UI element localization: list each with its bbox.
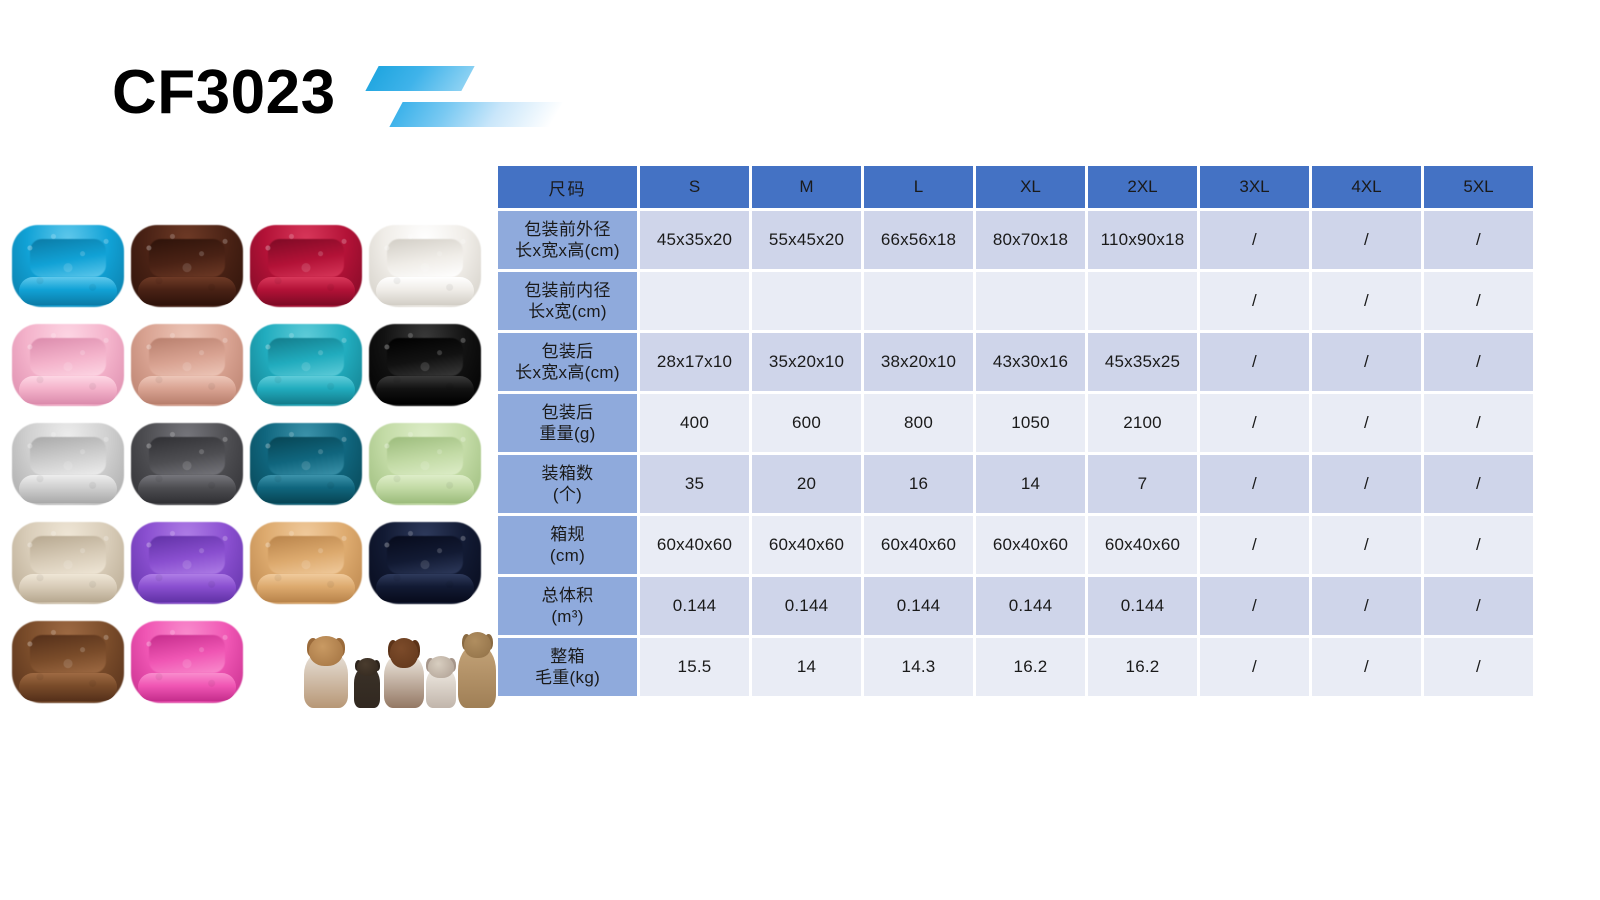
row-label: 装箱数(个) — [498, 455, 637, 513]
pet-head — [309, 636, 343, 666]
table-row: 包装前外径长x宽x高(cm)45x35x2055x45x2066x56x1880… — [498, 211, 1533, 269]
bed-fur-texture — [131, 225, 243, 307]
bed-fur-texture — [369, 225, 481, 307]
row-label-line-2: (个) — [498, 484, 637, 505]
cell-s: 35 — [640, 455, 749, 513]
cell-xl — [976, 272, 1085, 330]
cell-5xl: / — [1424, 272, 1533, 330]
product-color-gallery — [8, 216, 486, 711]
pet-bulldog — [304, 636, 348, 708]
column-header-m: M — [752, 166, 861, 208]
cell-4xl: / — [1312, 455, 1421, 513]
cell-5xl: / — [1424, 638, 1533, 696]
product-swatch-petrol-blue — [246, 414, 365, 513]
pet-bed-image — [369, 423, 481, 505]
table-corner-header: 尺码 — [498, 166, 637, 208]
row-label-line-2: (m³) — [498, 606, 637, 627]
table-row: 包装后长x宽x高(cm)28x17x1035x20x1038x20x1043x3… — [498, 333, 1533, 391]
bed-fur-texture — [12, 423, 124, 505]
pet-bed-image — [250, 423, 362, 505]
column-header-xl: XL — [976, 166, 1085, 208]
bed-fur-texture — [131, 423, 243, 505]
pet-bed-image — [12, 324, 124, 406]
cell-l: 14.3 — [864, 638, 973, 696]
cell-5xl: / — [1424, 211, 1533, 269]
table-row: 包装前内径长x宽(cm)/// — [498, 272, 1533, 330]
cell-3xl: / — [1200, 577, 1309, 635]
pet-bed-image — [131, 225, 243, 307]
column-header-s: S — [640, 166, 749, 208]
spec-table-container: 尺码SMLXL2XL3XL4XL5XL 包装前外径长x宽x高(cm)45x35x… — [495, 163, 1508, 699]
cell-m: 600 — [752, 394, 861, 452]
logo-bar-top-icon — [365, 66, 474, 91]
cell-2xl: 2100 — [1088, 394, 1197, 452]
cell-3xl: / — [1200, 211, 1309, 269]
pet-head — [428, 656, 454, 678]
cell-5xl: / — [1424, 516, 1533, 574]
cell-3xl: / — [1200, 516, 1309, 574]
group-of-pets-photo — [302, 616, 502, 708]
cell-5xl: / — [1424, 577, 1533, 635]
cell-3xl: / — [1200, 333, 1309, 391]
product-swatch-dark-brown — [127, 216, 246, 315]
cell-xl: 0.144 — [976, 577, 1085, 635]
cell-4xl: / — [1312, 638, 1421, 696]
cell-xl: 60x40x60 — [976, 516, 1085, 574]
cell-l: 66x56x18 — [864, 211, 973, 269]
product-swatch-teal — [246, 315, 365, 414]
pet-bed-image — [131, 423, 243, 505]
cell-l — [864, 272, 973, 330]
row-label: 包装后重量(g) — [498, 394, 637, 452]
table-row: 箱规(cm)60x40x6060x40x6060x40x6060x40x6060… — [498, 516, 1533, 574]
cell-s: 400 — [640, 394, 749, 452]
bed-fur-texture — [12, 522, 124, 604]
product-swatch-beige — [8, 513, 127, 612]
cell-2xl: 16.2 — [1088, 638, 1197, 696]
pet-head — [464, 632, 491, 658]
cell-3xl: / — [1200, 272, 1309, 330]
bed-fur-texture — [131, 621, 243, 703]
table-row: 整箱毛重(kg)15.51414.316.216.2/// — [498, 638, 1533, 696]
pet-bed-image — [12, 522, 124, 604]
cell-l: 38x20x10 — [864, 333, 973, 391]
cell-m: 35x20x10 — [752, 333, 861, 391]
row-label-line-2: 重量(g) — [498, 423, 637, 444]
table-row: 装箱数(个)352016147/// — [498, 455, 1533, 513]
row-label: 整箱毛重(kg) — [498, 638, 637, 696]
product-swatch-hot-pink — [127, 612, 246, 711]
row-label-line-2: 长x宽(cm) — [498, 301, 637, 322]
product-swatch-purple — [127, 513, 246, 612]
pet-bed-image — [131, 324, 243, 406]
pet-bed-image — [250, 324, 362, 406]
row-label: 包装后长x宽x高(cm) — [498, 333, 637, 391]
bed-fur-texture — [12, 621, 124, 703]
column-header-5xl: 5XL — [1424, 166, 1533, 208]
row-label: 包装前外径长x宽x高(cm) — [498, 211, 637, 269]
bed-fur-texture — [250, 324, 362, 406]
table-row: 包装后重量(g)40060080010502100/// — [498, 394, 1533, 452]
cell-s: 28x17x10 — [640, 333, 749, 391]
cell-m: 14 — [752, 638, 861, 696]
cell-xl: 14 — [976, 455, 1085, 513]
product-swatch-medium-brown — [8, 612, 127, 711]
cell-2xl: 110x90x18 — [1088, 211, 1197, 269]
pet-french-bulldog — [458, 632, 496, 708]
title-block: CF3023 — [112, 52, 558, 134]
column-header-l: L — [864, 166, 973, 208]
column-header-3xl: 3XL — [1200, 166, 1309, 208]
pet-basset-hound — [384, 638, 424, 708]
pet-kitten — [354, 658, 380, 708]
pet-bed-image — [369, 225, 481, 307]
pet-persian-cat — [426, 656, 456, 708]
cell-l: 60x40x60 — [864, 516, 973, 574]
cell-s — [640, 272, 749, 330]
cell-xl: 43x30x16 — [976, 333, 1085, 391]
product-swatch-sage-green — [365, 414, 484, 513]
row-label-line-1: 总体积 — [498, 585, 637, 606]
cell-4xl: / — [1312, 211, 1421, 269]
row-label-line-2: 长x宽x高(cm) — [498, 240, 637, 261]
size-spec-table: 尺码SMLXL2XL3XL4XL5XL 包装前外径长x宽x高(cm)45x35x… — [495, 163, 1536, 699]
column-header-2xl: 2XL — [1088, 166, 1197, 208]
page-title: CF3023 — [112, 62, 336, 124]
table-body: 包装前外径长x宽x高(cm)45x35x2055x45x2066x56x1880… — [498, 211, 1533, 696]
pet-bed-image — [131, 621, 243, 703]
cell-2xl: 60x40x60 — [1088, 516, 1197, 574]
bed-fur-texture — [131, 522, 243, 604]
cell-m: 55x45x20 — [752, 211, 861, 269]
cell-m: 60x40x60 — [752, 516, 861, 574]
product-swatch-cream-white — [365, 216, 484, 315]
pet-bed-image — [12, 423, 124, 505]
pet-bed-image — [250, 522, 362, 604]
cell-4xl: / — [1312, 394, 1421, 452]
cell-xl: 16.2 — [976, 638, 1085, 696]
row-label-line-2: 毛重(kg) — [498, 667, 637, 688]
table-row: 总体积(m³)0.1440.1440.1440.1440.144/// — [498, 577, 1533, 635]
cell-l: 800 — [864, 394, 973, 452]
cell-m: 20 — [752, 455, 861, 513]
cell-3xl: / — [1200, 455, 1309, 513]
row-label-line-1: 装箱数 — [498, 463, 637, 484]
cell-5xl: / — [1424, 394, 1533, 452]
cell-2xl: 7 — [1088, 455, 1197, 513]
pet-bed-image — [12, 621, 124, 703]
cell-2xl — [1088, 272, 1197, 330]
pet-bed-image — [369, 522, 481, 604]
row-label-line-1: 整箱 — [498, 646, 637, 667]
pet-bed-image — [12, 225, 124, 307]
bed-fur-texture — [250, 225, 362, 307]
cell-s: 0.144 — [640, 577, 749, 635]
cell-4xl: / — [1312, 272, 1421, 330]
cell-4xl: / — [1312, 516, 1421, 574]
pet-head — [390, 638, 418, 668]
cell-4xl: / — [1312, 577, 1421, 635]
cell-5xl: / — [1424, 333, 1533, 391]
cell-l: 16 — [864, 455, 973, 513]
row-label: 总体积(m³) — [498, 577, 637, 635]
cell-2xl: 45x35x25 — [1088, 333, 1197, 391]
brand-chevron-logo — [358, 62, 558, 134]
logo-bar-bottom-icon — [389, 102, 562, 127]
bed-fur-texture — [131, 324, 243, 406]
table-header-row: 尺码SMLXL2XL3XL4XL5XL — [498, 166, 1533, 208]
product-swatch-navy — [365, 513, 484, 612]
row-label-line-1: 包装后 — [498, 402, 637, 423]
product-swatch-azure-blue — [8, 216, 127, 315]
row-label: 箱规(cm) — [498, 516, 637, 574]
pet-bed-image — [131, 522, 243, 604]
cell-3xl: / — [1200, 638, 1309, 696]
pet-head — [357, 658, 378, 676]
bed-fur-texture — [369, 324, 481, 406]
bed-fur-texture — [250, 423, 362, 505]
bed-fur-texture — [12, 225, 124, 307]
product-swatch-crimson-red — [246, 216, 365, 315]
bed-fur-texture — [369, 423, 481, 505]
cell-4xl: / — [1312, 333, 1421, 391]
cell-m: 0.144 — [752, 577, 861, 635]
pet-bed-image — [250, 225, 362, 307]
cell-xl: 80x70x18 — [976, 211, 1085, 269]
cell-l: 0.144 — [864, 577, 973, 635]
product-swatch-light-grey — [8, 414, 127, 513]
row-label: 包装前内径长x宽(cm) — [498, 272, 637, 330]
bed-fur-texture — [12, 324, 124, 406]
bed-fur-texture — [250, 522, 362, 604]
cell-xl: 1050 — [976, 394, 1085, 452]
product-swatch-camel-tan — [246, 513, 365, 612]
cell-m — [752, 272, 861, 330]
row-label-line-2: (cm) — [498, 545, 637, 566]
cell-2xl: 0.144 — [1088, 577, 1197, 635]
product-swatch-dusty-rose — [127, 315, 246, 414]
cell-3xl: / — [1200, 394, 1309, 452]
row-label-line-1: 箱规 — [498, 524, 637, 545]
pet-bed-image — [369, 324, 481, 406]
bed-fur-texture — [369, 522, 481, 604]
row-label-line-1: 包装前外径 — [498, 219, 637, 240]
cell-5xl: / — [1424, 455, 1533, 513]
row-label-line-2: 长x宽x高(cm) — [498, 362, 637, 383]
cell-s: 15.5 — [640, 638, 749, 696]
product-spec-sheet: CF3023 尺码SMLXL2XL3XL4XL5XL 包装前外径长x宽x高(cm… — [0, 0, 1600, 900]
column-header-4xl: 4XL — [1312, 166, 1421, 208]
product-swatch-charcoal — [127, 414, 246, 513]
row-label-line-1: 包装前内径 — [498, 280, 637, 301]
cell-s: 45x35x20 — [640, 211, 749, 269]
cell-s: 60x40x60 — [640, 516, 749, 574]
row-label-line-1: 包装后 — [498, 341, 637, 362]
product-swatch-black — [365, 315, 484, 414]
product-swatch-light-pink — [8, 315, 127, 414]
